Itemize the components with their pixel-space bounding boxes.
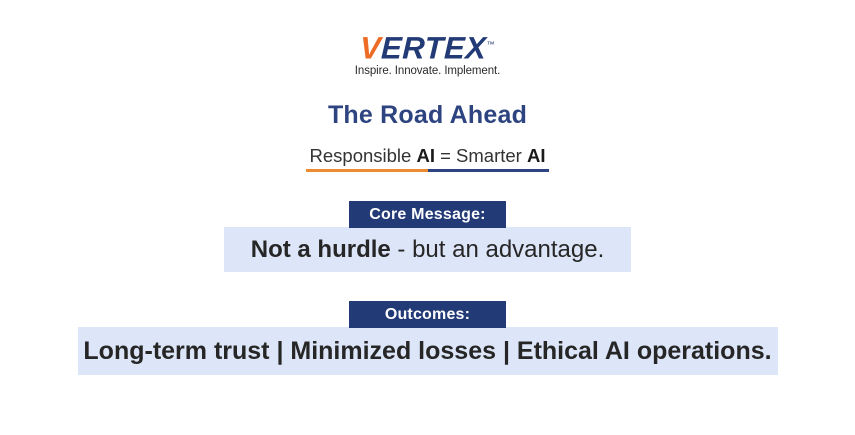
outcomes-badge: Outcomes: [349,301,506,328]
logo-tagline: Inspire. Innovate. Implement. [0,65,855,77]
outcomes-group: Outcomes: Long-term trust | Minimized lo… [0,301,855,375]
logo-initial-v: V [359,30,381,65]
subtitle-underline-blue [428,169,550,172]
brand-logo: VERTEX™ Inspire. Innovate. Implement. [0,29,855,77]
subtitle-container: Responsible AI = Smarter AI [0,145,855,172]
page-title: The Road Ahead [0,101,855,130]
subtitle-segment-responsible: Responsible [310,145,417,166]
core-message-tail: - but an advantage. [391,236,605,263]
core-message-panel: Not a hurdle - but an advantage. [224,227,631,272]
outcomes-panel: Long-term trust | Minimized losses | Eth… [78,327,778,375]
subtitle-segment-ai-first: AI [416,145,435,166]
core-message-lead: Not a hurdle [251,236,391,263]
subtitle-underline [306,169,550,172]
subtitle: Responsible AI = Smarter AI [306,145,550,172]
trademark-icon: ™ [486,40,495,49]
subtitle-segment-ai-second: AI [527,145,546,166]
subtitle-segment-equals: = Smarter [435,145,527,166]
logo-wordmark-rest: ERTEX [381,30,488,65]
logo-wordmark: VERTEX™ [359,29,495,64]
core-message-group: Core Message: Not a hurdle - but an adva… [0,201,855,272]
subtitle-underline-orange [306,169,428,172]
core-message-badge: Core Message: [349,201,506,228]
slide-canvas: VERTEX™ Inspire. Innovate. Implement. Th… [0,0,855,435]
